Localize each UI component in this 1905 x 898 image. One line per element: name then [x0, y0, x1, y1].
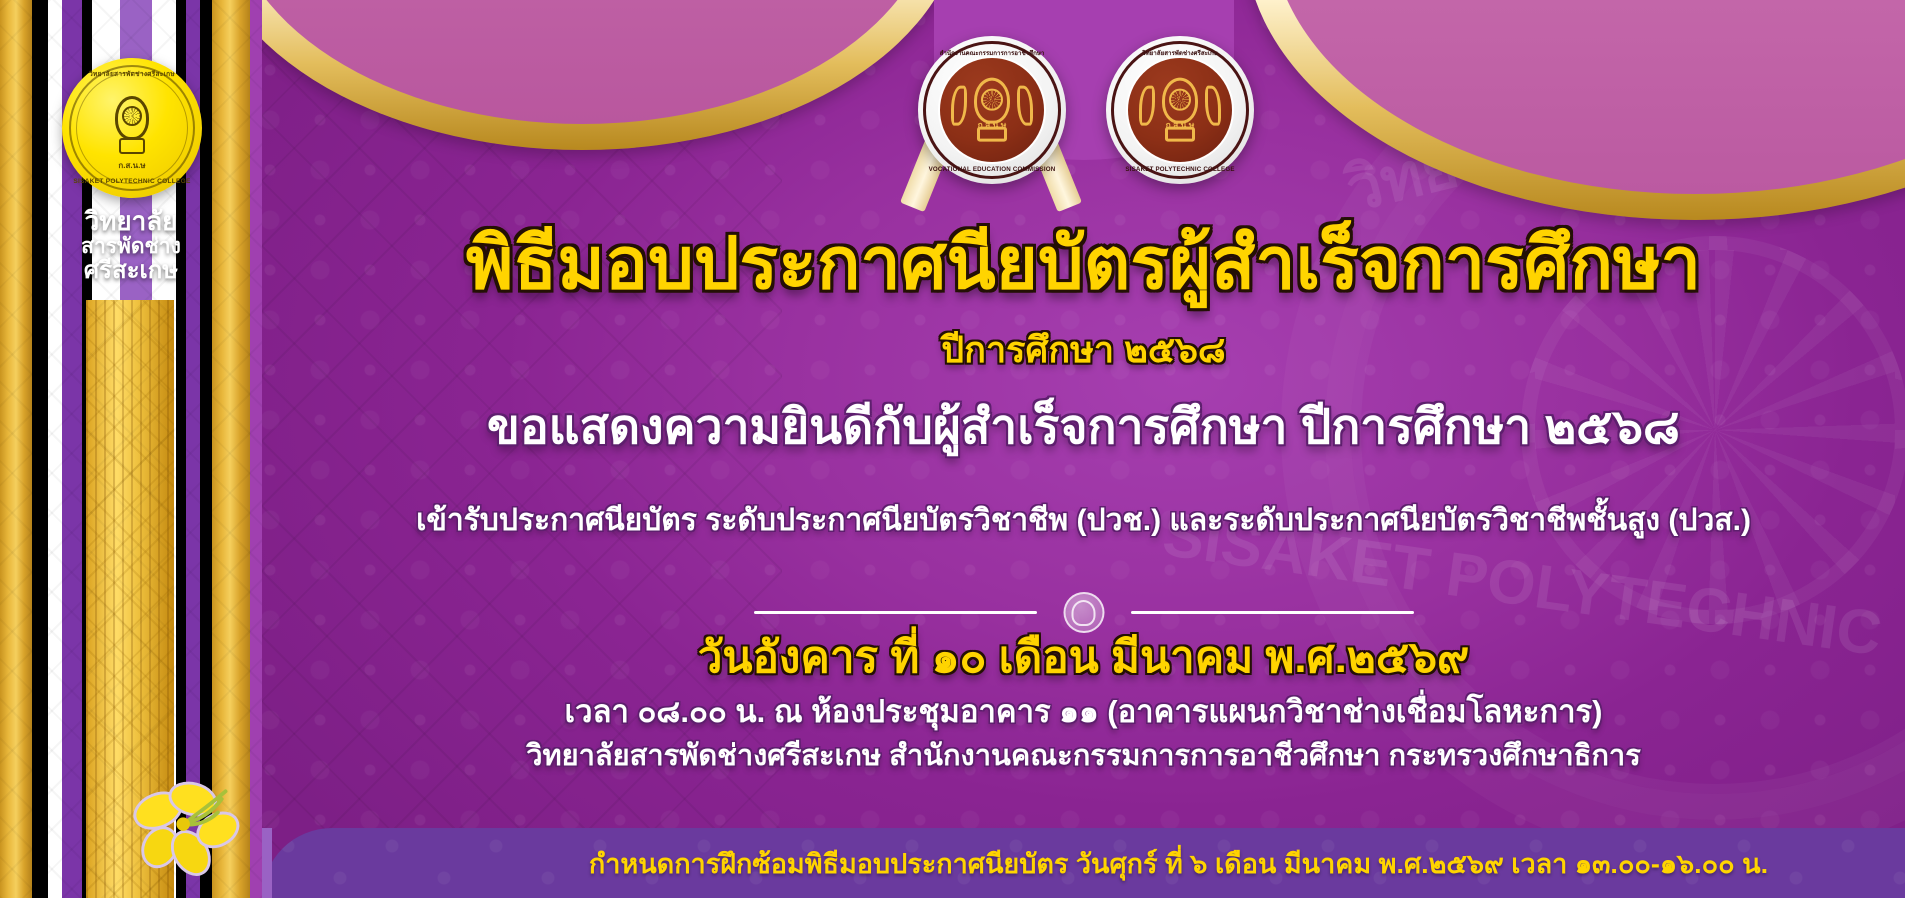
banner-academic-year: ปีการศึกษา ๒๕๖๘: [262, 332, 1905, 368]
college-name-block: วิทยาลัย สารพัดช่าง ศรีสะเกษ: [0, 208, 262, 285]
medallion-abbreviation: ก.ส.น.ษ: [940, 118, 1044, 132]
college-name-line-2: สารพัดช่าง: [0, 235, 262, 258]
dharma-wheel-icon: [981, 89, 1003, 111]
bottom-bar-left-cap: [262, 828, 272, 898]
seal-abbreviation: ก.ส.น.ษ: [62, 159, 202, 172]
ceremony-venue-line: เวลา ๐๘.๐๐ น. ณ ห้องประชุมอาคาร ๑๑ (อาคา…: [262, 696, 1905, 727]
certificate-levels-line: เข้ารับประกาศนียบัตร ระดับประกาศนียบัตรว…: [262, 506, 1905, 536]
medallion-bottom-text: SISAKET POLYTECHNIC COLLEGE: [1106, 166, 1254, 173]
medallion-sisaket-polytechnic-college: วิทยาลัยสารพัดช่างศรีสะเกษ SISAKET POLYT…: [1106, 36, 1254, 184]
divider-line-right: [1131, 611, 1414, 614]
congratulations-line: ขอแสดงความยินดีกับผู้สำเร็จการศึกษา ปีกา…: [262, 404, 1905, 452]
divider-line-left: [754, 611, 1037, 614]
medallion-vocational-education-commission: สำนักงานคณะกรรมการการอาชีวศึกษา VOCATION…: [918, 36, 1066, 184]
medallion-inner-disc: ก.ส.น.ษ: [1126, 56, 1234, 164]
section-divider: [754, 592, 1414, 632]
ceremony-date-line: วันอังคาร ที่ ๑๐ เดือน มีนาคม พ.ศ.๒๕๖๙: [262, 636, 1905, 680]
cassia-flower-icon: [128, 774, 246, 880]
seal-dharma-wheel-icon: [122, 106, 142, 126]
main-content-area: พิธีมอบประกาศนียบัตรผู้สำเร็จการศึกษา ปี…: [262, 0, 1905, 898]
banner-title: พิธีมอบประกาศนียบัตรผู้สำเร็จการศึกษา: [262, 228, 1905, 300]
medallion-abbreviation: ก.ส.น.ษ: [1128, 118, 1232, 132]
seal-emblem-icon: [104, 94, 160, 156]
seal-bottom-text: SISAKET POLYTECHNIC COLLEGE: [62, 178, 202, 185]
medallion-bottom-text: VOCATIONAL EDUCATION COMMISSION: [918, 166, 1066, 173]
medallion-inner-disc: ก.ส.น.ษ: [938, 56, 1046, 164]
divider-seal-icon: [1063, 592, 1104, 633]
dharma-wheel-icon: [1169, 89, 1191, 111]
seal-top-text: วิทยาลัยสารพัดช่างศรีสะเกษ: [62, 69, 202, 79]
left-ornamental-border: วิทยาลัยสารพัดช่างศรีสะเกษ SISAKET POLYT…: [0, 0, 262, 898]
organization-line: วิทยาลัยสารพัดช่างศรีสะเกษ สำนักงานคณะกร…: [262, 742, 1905, 771]
graduation-ceremony-banner: วิทยาลัยสารพัดช่าง SISAKET POLYTECHNIC ส…: [0, 0, 1905, 898]
college-seal-icon: วิทยาลัยสารพัดช่างศรีสะเกษ SISAKET POLYT…: [62, 58, 202, 198]
college-name-line-1: วิทยาลัย: [0, 208, 262, 235]
seal-base-icon: [119, 138, 145, 154]
rehearsal-note: กำหนดการฝึกซ้อมพิธีมอบประกาศนียบัตร วันศ…: [482, 828, 1875, 898]
bottom-note-bar: กำหนดการฝึกซ้อมพิธีมอบประกาศนียบัตร วันศ…: [262, 828, 1905, 898]
college-name-line-3: ศรีสะเกษ: [0, 258, 262, 284]
